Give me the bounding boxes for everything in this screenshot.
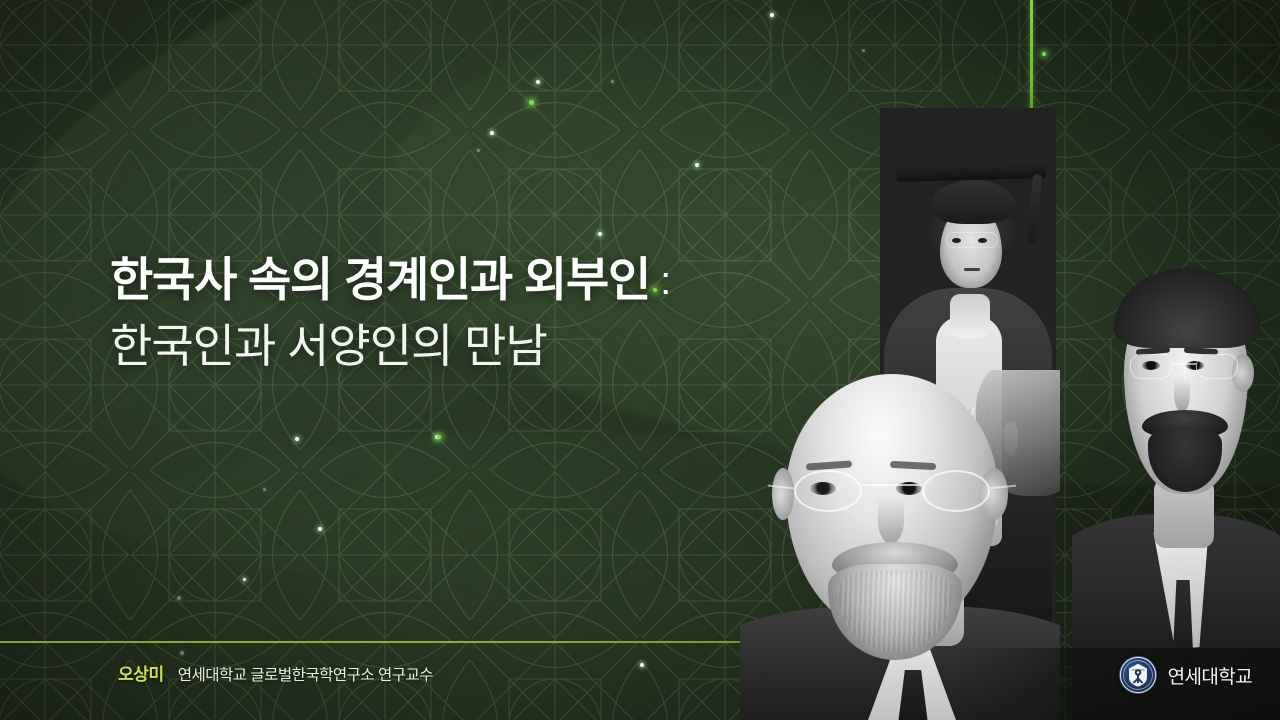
presenter-affiliation: 연세대학교 글로벌한국학연구소 연구교수: [178, 663, 433, 685]
title-block: 한국사 속의 경계인과 외부인: 한국인과 서양인의 만남: [110, 252, 810, 375]
title-line-2: 한국인과 서양인의 만남: [110, 319, 810, 374]
yonsei-university-seal-icon: [1119, 656, 1157, 694]
presenter-name: 오상미: [118, 660, 164, 685]
western-man-with-mustache-photo: [1072, 228, 1280, 720]
presenter-credit: 오상미 연세대학교 글로벌한국학연구소 연구교수: [118, 660, 433, 685]
brand-lockup: 연세대학교: [1119, 656, 1252, 694]
title-slide: 한국사 속의 경계인과 외부인: 한국인과 서양인의 만남 오상미 연세대학교 …: [0, 0, 1280, 720]
title-line-1-text: 한국사 속의 경계인과 외부인: [110, 253, 650, 306]
title-colon: :: [660, 259, 670, 303]
brand-name: 연세대학교: [1168, 662, 1252, 689]
title-line-1: 한국사 속의 경계인과 외부인:: [110, 252, 810, 307]
footer-bar: 오상미 연세대학교 글로벌한국학연구소 연구교수 연세대학교: [0, 648, 1280, 706]
